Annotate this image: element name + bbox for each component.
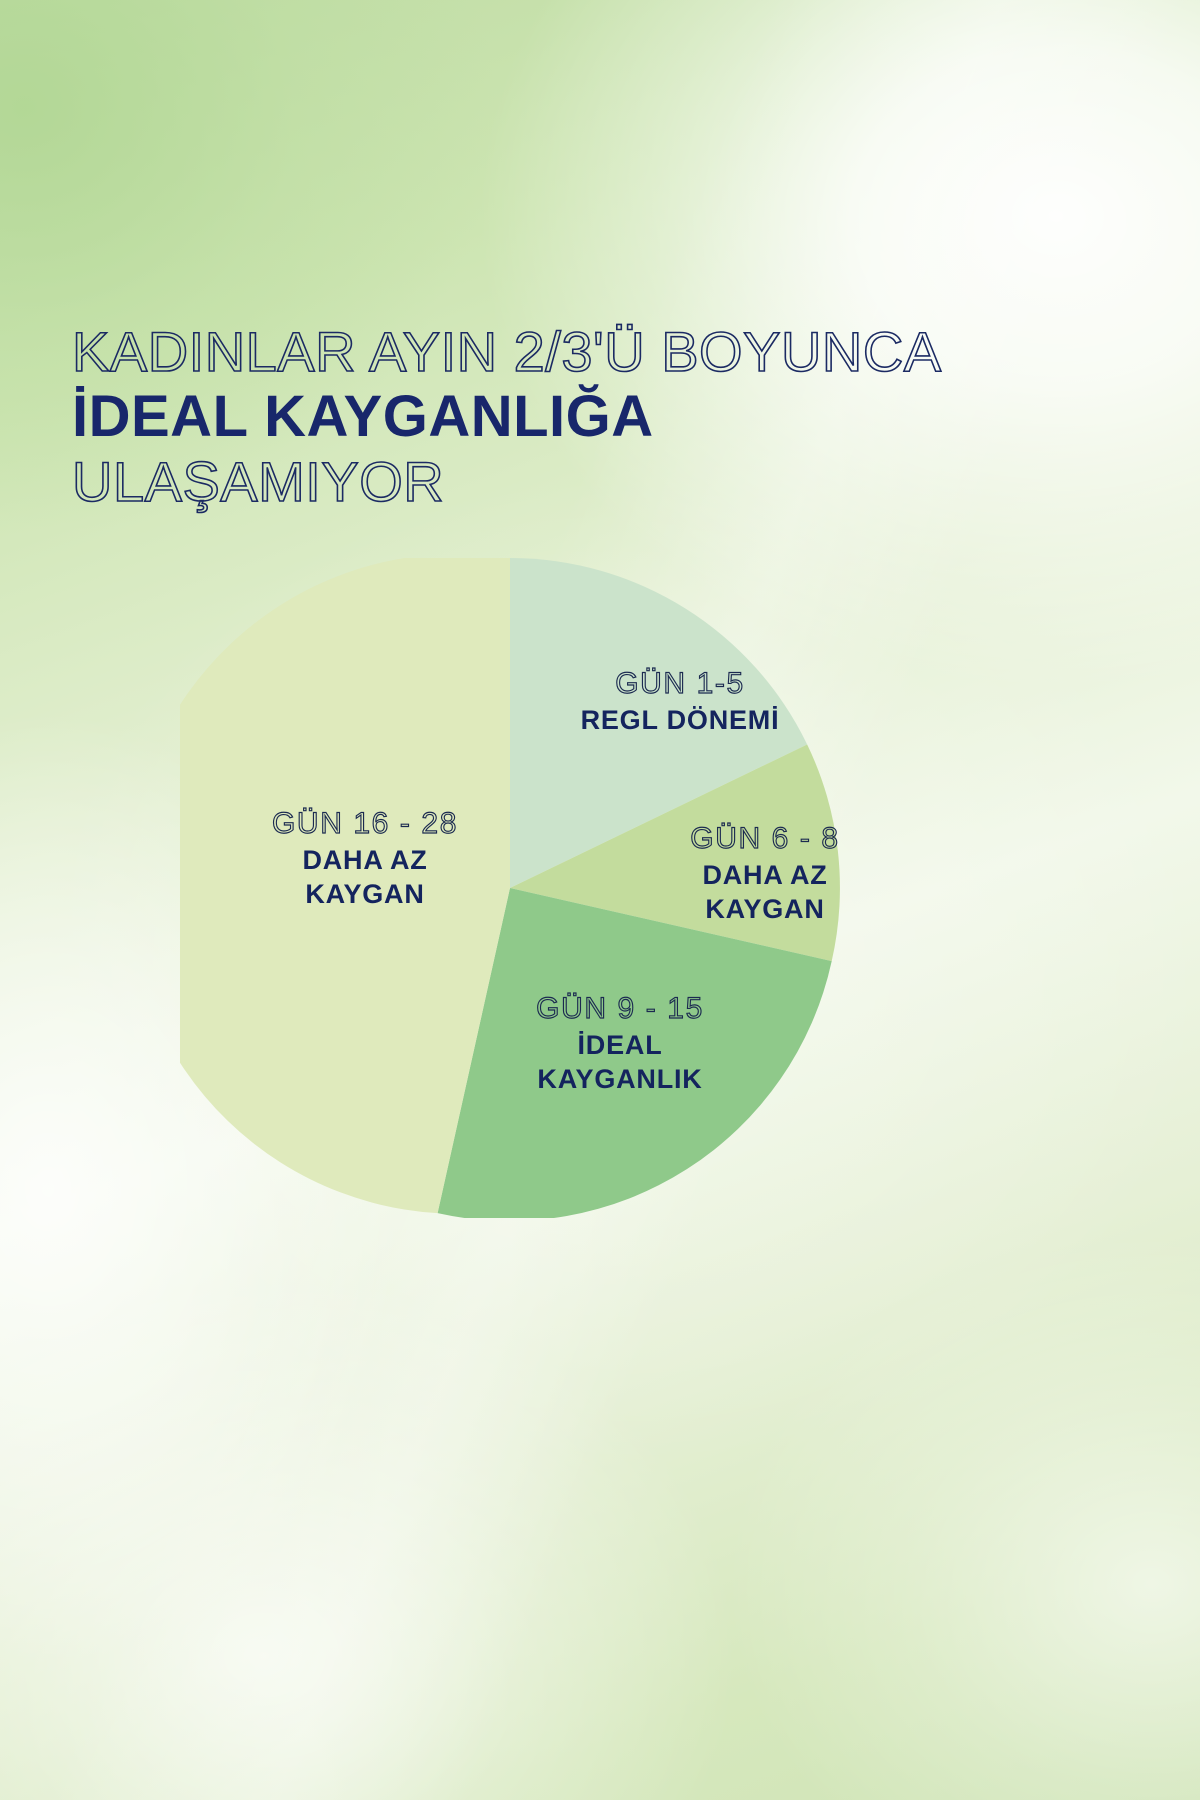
pie-label-gun-16-28-name-line1: DAHA AZ: [215, 843, 515, 877]
headline-line-2: İDEAL KAYGANLIĞA: [72, 384, 1082, 450]
pie-label-regl-days: GÜN 1-5: [540, 665, 820, 703]
headline-line-3: ULAŞAMIYOR: [72, 452, 1082, 512]
headline-line-1: KADINLAR AYIN 2/3'Ü BOYUNCA: [72, 322, 1082, 382]
pie-label-ideal-days: GÜN 9 - 15: [470, 990, 770, 1028]
infographic-poster: KADINLAR AYIN 2/3'Ü BOYUNCA İDEAL KAYGAN…: [0, 0, 1200, 1800]
pie-label-ideal-name-line2: KAYGANLIK: [470, 1062, 770, 1096]
pie-label-ideal-name-line1: İDEAL: [470, 1028, 770, 1062]
pie-label-regl-donemi: GÜN 1-5 REGL DÖNEMİ: [540, 665, 820, 737]
pie-label-gun-6-8: GÜN 6 - 8 DAHA AZ KAYGAN: [650, 820, 880, 926]
pie-label-gun-16-28-days: GÜN 16 - 28: [215, 805, 515, 843]
pie-label-ideal-kayganlik: GÜN 9 - 15 İDEAL KAYGANLIK: [470, 990, 770, 1096]
pie-label-gun-16-28-name-line2: KAYGAN: [215, 877, 515, 911]
pie-label-regl-name: REGL DÖNEMİ: [540, 703, 820, 737]
pie-label-gun-6-8-days: GÜN 6 - 8: [650, 820, 880, 858]
pie-label-gun-16-28: GÜN 16 - 28 DAHA AZ KAYGAN: [215, 805, 515, 911]
pie-label-gun-6-8-name-line2: KAYGAN: [650, 892, 880, 926]
headline-block: KADINLAR AYIN 2/3'Ü BOYUNCA İDEAL KAYGAN…: [72, 322, 1082, 512]
pie-label-gun-6-8-name-line1: DAHA AZ: [650, 858, 880, 892]
